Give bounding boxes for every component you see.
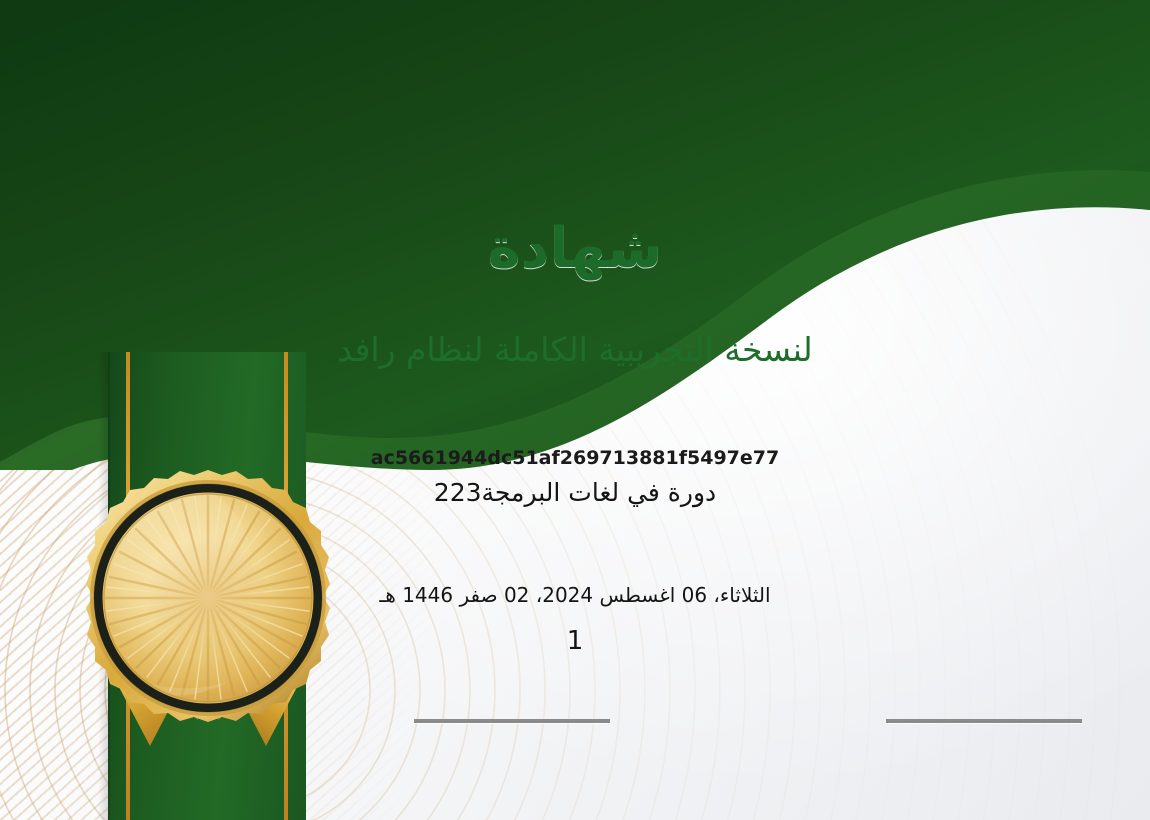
signature-line-left <box>414 719 610 723</box>
certificate-subtitle: لنسخة التجريبية الكاملة لنظام رافد <box>0 330 1150 369</box>
certificate-title: شهادة <box>0 216 1150 281</box>
course-name: دورة في لغات البرمجة223 <box>0 478 1150 507</box>
signature-line-right <box>886 719 1082 723</box>
issue-date: الثلاثاء، 06 اغسطس 2024، 02 صفر 1446 هـ <box>0 583 1150 607</box>
certificate-hash-code: ac5661944dc51af269713881f5497e77 <box>0 447 1150 469</box>
serial-number: 1 <box>0 626 1150 656</box>
certificate-page: شهادة لنسخة التجريبية الكاملة لنظام رافد… <box>0 0 1150 820</box>
